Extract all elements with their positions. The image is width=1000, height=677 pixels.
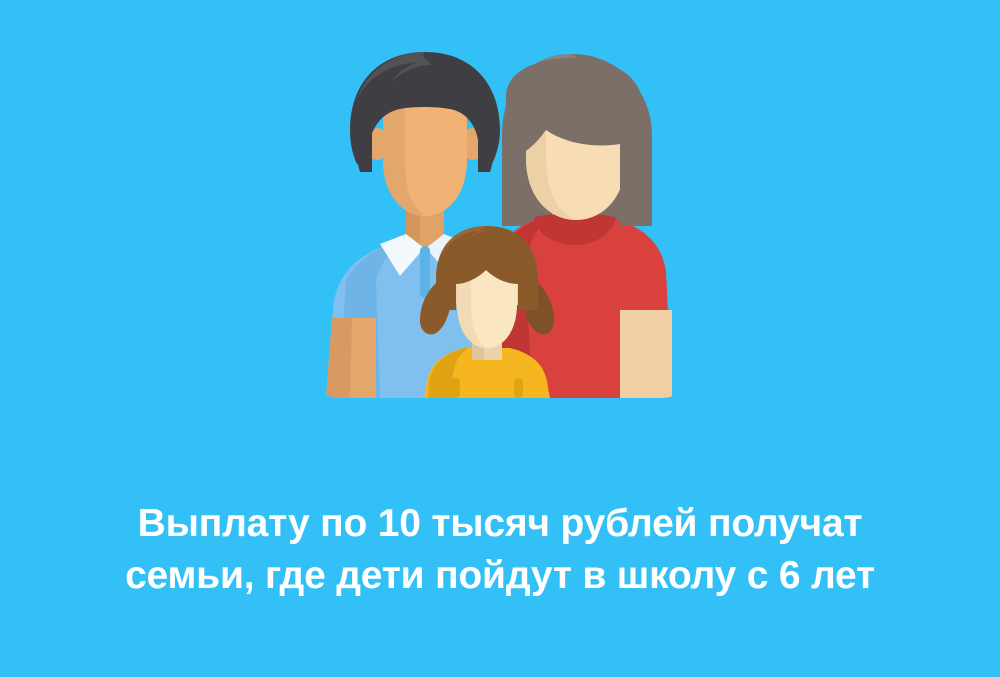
poster-canvas: Выплату по 10 тысяч рублей получат семьи…	[0, 0, 1000, 677]
mother-hair-left-strand	[502, 138, 524, 226]
child-shirt-fold-right	[514, 378, 523, 398]
father-hair-sideburn-right	[478, 130, 494, 172]
child-shirt-fold-left	[451, 378, 460, 398]
headline-line-1: Выплату по 10 тысяч рублей получат	[0, 498, 1000, 550]
family-illustration	[320, 48, 682, 398]
mother-figure	[488, 54, 672, 398]
headline-line-2: семьи, где дети пойдут в школу с 6 лет	[0, 550, 1000, 602]
father-left-arm-shadow	[326, 318, 352, 398]
mother-right-arm	[620, 310, 672, 398]
mother-hair-right-strand	[620, 138, 652, 226]
headline: Выплату по 10 тысяч рублей получат семьи…	[0, 498, 1000, 602]
father-hair-sideburn-left	[356, 130, 372, 172]
family-illustration-container	[320, 48, 682, 398]
father-shirt-placket	[420, 246, 430, 298]
